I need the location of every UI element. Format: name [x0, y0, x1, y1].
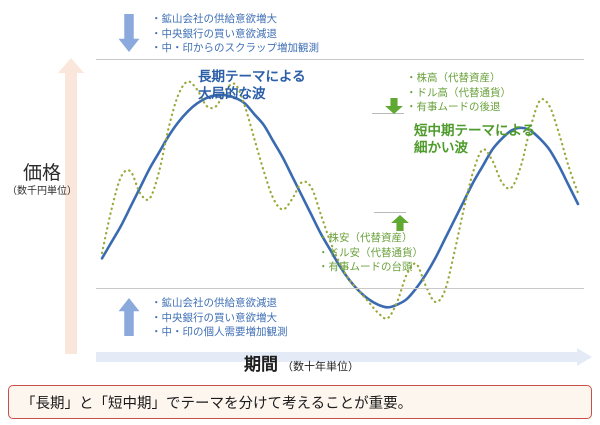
caption-box: 「長期」と「短中期」でテーマを分けて考えることが重要。 — [8, 385, 592, 419]
caption-text: 「長期」と「短中期」でテーマを分けて考えることが重要。 — [21, 392, 412, 413]
annotation-line: ・有事ムードの台頭 — [318, 260, 423, 275]
annotation-mid-bottom-green: ・株安（代替資産） ・ドル安（代替通貨） ・有事ムードの台頭 — [318, 231, 423, 275]
annotation-line: ・中央銀行の買い意欲減退 — [151, 27, 319, 42]
series-short-term-wave — [102, 81, 578, 318]
annotation-line: ・株安（代替資産） — [318, 231, 423, 246]
annotation-line: ・鉱山会社の供給意欲増大 — [151, 12, 319, 27]
label-short-term-wave: 短中期テーマによる 細かい波 — [414, 122, 535, 156]
x-axis-label-group: 期間 （数十年単位） — [244, 350, 359, 375]
annotation-line: ・中・印からのスクラップ増加観測 — [151, 41, 319, 56]
annotation-bottom-price-drivers: ・鉱山会社の供給意欲減退 ・中央銀行の買い意欲増大 ・中・印の個人需要増加観測 — [118, 296, 288, 340]
up-arrow-icon — [118, 298, 140, 336]
x-axis-label: 期間 — [244, 350, 278, 375]
leader-line-bottom-green — [374, 212, 406, 213]
annotation-line: ・株高（代替資産） — [406, 71, 511, 86]
annotation-line: ・鉱山会社の供給意欲減退 — [151, 296, 288, 311]
label-short-term-line1: 短中期テーマによる — [414, 122, 535, 139]
down-arrow-icon — [384, 98, 404, 114]
down-arrow-icon — [118, 14, 140, 52]
annotation-line: ・有事ムードの後退 — [406, 100, 511, 115]
label-short-term-line2: 細かい波 — [414, 139, 535, 156]
annotation-line: ・ドル安（代替通貨） — [318, 246, 423, 261]
label-long-term-wave: 長期テーマによる 大局的な波 — [198, 68, 306, 102]
label-long-term-line1: 長期テーマによる — [198, 68, 306, 85]
green-down-arrow-wrap — [384, 98, 404, 119]
annotation-line: ・ドル高（代替通貨） — [406, 86, 511, 101]
y-axis-label-group: 価格 （数千円単位） — [2, 163, 82, 198]
y-axis-arrow — [58, 58, 84, 354]
x-axis-unit: （数十年単位） — [282, 358, 359, 374]
y-axis-unit: （数千円単位） — [2, 185, 82, 198]
divider-bottom — [96, 288, 584, 289]
figure-root: ・鉱山会社の供給意欲増大 ・中央銀行の買い意欲減退 ・中・印からのスクラップ増加… — [0, 0, 600, 425]
annotation-line: ・中・印の個人需要増加観測 — [151, 325, 288, 340]
y-axis-label: 価格 — [2, 163, 82, 185]
label-long-term-line2: 大局的な波 — [198, 85, 306, 102]
annotation-line: ・中央銀行の買い意欲増大 — [151, 311, 288, 326]
annotation-right-top-green: ・株高（代替資産） ・ドル高（代替通貨） ・有事ムードの後退 — [406, 71, 511, 115]
annotation-top-price-drivers: ・鉱山会社の供給意欲増大 ・中央銀行の買い意欲減退 ・中・印からのスクラップ増加… — [118, 12, 319, 56]
up-arrow-icon — [390, 215, 410, 231]
